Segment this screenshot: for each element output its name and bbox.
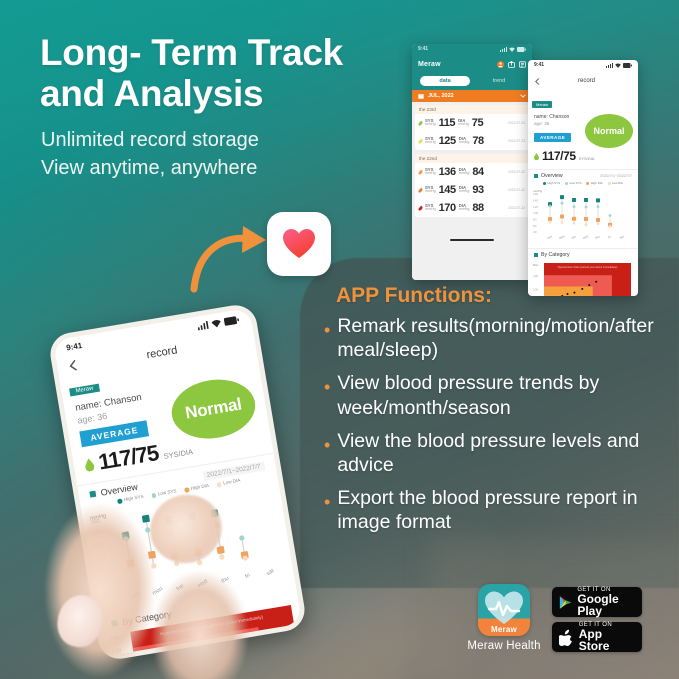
status-badge: Normal: [585, 114, 633, 148]
svg-text:120: 120: [94, 542, 104, 549]
bp-reading: 117/75 SYS/DIA: [534, 147, 632, 165]
svg-text:100: 100: [533, 288, 538, 292]
phone-screenshot-record: 9:41 record Meraw name: Chanson age: 36 …: [528, 60, 638, 296]
dia-label: DIAmmHg: [459, 168, 470, 176]
svg-text:sat: sat: [619, 235, 624, 240]
records-list[interactable]: the 23rd SYSmmHg 115 DIAmmHg 75 2022-07-…: [412, 102, 532, 280]
badge-store-name: App Store: [579, 628, 635, 652]
meraw-heart-logo-icon: Meraw: [478, 584, 530, 636]
sys-value: 136: [439, 166, 456, 178]
svg-text:mon: mon: [558, 234, 565, 240]
dia-label: DIAmmHg: [459, 186, 470, 194]
svg-text:140: 140: [92, 530, 102, 537]
svg-text:fri: fri: [608, 235, 612, 240]
signal-icon: [197, 320, 209, 330]
back-arrow-icon[interactable]: [66, 358, 81, 378]
share-icon[interactable]: [508, 55, 515, 73]
sys-value: 145: [439, 184, 456, 196]
signal-icon: [500, 47, 507, 52]
bullet-icon: •: [324, 378, 330, 396]
dia-value: 84: [472, 166, 483, 178]
svg-text:DIA: DIA: [110, 635, 120, 642]
app-functions-title: APP Functions:: [336, 284, 492, 308]
level-drop-icon: [418, 120, 424, 126]
sys-value: 125: [439, 135, 456, 147]
google-play-badge[interactable]: GET IT ON Google Play: [552, 587, 642, 617]
overview-date-range: 2022/7/1~2022/7/7: [600, 174, 632, 178]
bullet-icon: •: [324, 321, 330, 339]
home-indicator: [450, 239, 494, 241]
summary-card: name: Chanson age: 36 AVERAGE 117/75 SYS…: [528, 111, 638, 169]
legend-label: Low SYS: [570, 182, 582, 185]
level-drop-icon: [418, 138, 424, 144]
status-bar: 9:41: [528, 60, 638, 69]
svg-text:160: 160: [533, 192, 538, 196]
svg-text:wed: wed: [582, 234, 589, 240]
page-title: Long- Term Track and Analysis: [40, 32, 380, 115]
svg-text:tue: tue: [571, 234, 577, 239]
status-icons: [500, 47, 526, 52]
function-text: View the blood pressure levels and advic…: [337, 429, 674, 477]
svg-text:160: 160: [90, 518, 100, 525]
legend-item: Low DIA: [608, 182, 623, 185]
wifi-icon: [615, 63, 621, 68]
svg-text:Hypertensive Crisis (consult y: Hypertensive Crisis (consult your doctor…: [558, 266, 618, 269]
legend-label: High DIA: [591, 182, 603, 185]
overview-section-header: Overview 2022/7/1~2022/7/7: [528, 169, 638, 181]
record-time: 2022-07-22: [508, 170, 525, 174]
sys-label: SYSmmHg: [425, 186, 436, 194]
record-time: 2022-07-23: [508, 121, 525, 125]
calendar-icon: [418, 93, 424, 99]
status-time: 9:41: [534, 62, 544, 68]
legend-label: High SYS: [548, 182, 561, 185]
bp-unit: SYS/DIA: [163, 447, 194, 461]
subtitle-line-1: Unlimited record storage: [41, 126, 371, 154]
table-row[interactable]: SYSmmHg 115 DIAmmHg 75 2022-07-23: [415, 114, 529, 132]
bullet-icon: •: [324, 493, 330, 511]
overview-title: Overview: [541, 173, 563, 179]
list-item: • Export the blood pressure report in im…: [324, 486, 674, 534]
dia-label: DIAmmHg: [459, 137, 470, 145]
svg-text:100: 100: [533, 211, 538, 215]
legend-item: High SYS: [543, 182, 560, 185]
sys-label: SYSmmHg: [425, 119, 436, 127]
bp-value: 117/75: [97, 440, 161, 476]
legend-label: Low DIA: [612, 182, 623, 185]
sys-label: SYSmmHg: [425, 168, 436, 176]
view-tabs: data trend: [412, 76, 532, 90]
record-group-day: the 22nd: [415, 154, 529, 163]
record-title: record: [146, 344, 179, 361]
legend-item: High DIA: [586, 182, 602, 185]
svg-text:mon: mon: [151, 586, 163, 597]
table-row[interactable]: SYSmmHg 145 DIAmmHg 93 2022-07-22: [415, 181, 529, 199]
list-item: • Remark results(morning/motion/after me…: [324, 314, 674, 362]
bullet-icon: •: [324, 436, 330, 454]
meraw-tag: Meraw: [532, 101, 552, 108]
status-icons: [606, 63, 632, 68]
sys-label: SYSmmHg: [425, 204, 436, 212]
google-play-icon: [559, 594, 572, 611]
list-item: • View the blood pressure levels and adv…: [324, 429, 674, 477]
heart-icon: [282, 228, 316, 260]
level-drop-icon: [418, 169, 424, 175]
record-time: 2022-07-23: [508, 139, 525, 143]
status-time: 9:41: [66, 341, 83, 353]
signal-icon: [606, 63, 613, 68]
sys-value: 115: [439, 117, 456, 129]
app-topbar: 9:41 Meraw data trend: [412, 44, 532, 90]
section-marker-icon: [111, 620, 118, 627]
section-marker-icon: [534, 253, 538, 257]
battery-icon: [623, 63, 632, 68]
back-arrow-icon[interactable]: [534, 72, 541, 90]
svg-text:40: 40: [533, 230, 537, 234]
category-chart: DIA12010080Hypertensive Crisis (consult …: [528, 260, 638, 296]
dia-value: 78: [472, 135, 483, 147]
wifi-icon: [509, 47, 515, 52]
status-time: 9:41: [418, 46, 428, 52]
svg-text:tue: tue: [175, 583, 185, 592]
sys-value: 170: [439, 202, 456, 214]
record-group: the 22nd SYSmmHg 136 DIAmmHg 84 2022-07-…: [415, 154, 529, 217]
app-logo-block: Meraw Meraw Health: [464, 584, 544, 652]
record-time: 2022-07-22: [508, 206, 525, 210]
dia-value: 93: [472, 184, 483, 196]
legend-dot-icon: [543, 182, 546, 185]
wifi-icon: [211, 318, 222, 328]
list-item: • View blood pressure trends by week/mon…: [324, 371, 674, 419]
header-icon-group: [497, 55, 526, 73]
legend-dot-icon: [608, 182, 611, 185]
svg-text:60: 60: [100, 578, 107, 585]
svg-text:sun: sun: [130, 590, 141, 600]
date-selector-bar[interactable]: JUL, 2022: [412, 90, 532, 102]
function-text: Export the blood pressure report in imag…: [337, 486, 674, 534]
overview-chart: mmHg406080100120140160sunmontuewedthufri…: [528, 187, 638, 248]
svg-text:60: 60: [533, 224, 537, 228]
svg-text:thu: thu: [595, 234, 601, 239]
record-time: 2022-07-22: [508, 188, 525, 192]
record-group: the 23rd SYSmmHg 115 DIAmmHg 75 2022-07-…: [415, 105, 529, 150]
record-group-day: the 23rd: [415, 105, 529, 114]
status-bar: 9:41: [412, 44, 532, 53]
dia-value: 75: [472, 117, 483, 129]
chevron-down-icon: [520, 94, 526, 98]
table-row[interactable]: SYSmmHg 125 DIAmmHg 78 2022-07-23: [415, 132, 529, 150]
svg-text:sat: sat: [266, 568, 276, 577]
brand-row: Meraw: [412, 53, 532, 76]
svg-text:fri: fri: [244, 572, 251, 580]
headline-line-1: Long- Term Track: [40, 32, 380, 73]
legend-dot-icon: [117, 499, 122, 504]
badge-store-name: Google Play: [577, 593, 635, 617]
app-functions-list: • Remark results(morning/motion/after me…: [324, 314, 674, 543]
legend-dot-icon: [565, 182, 568, 185]
legend-dot-icon: [217, 482, 222, 487]
svg-text:thu: thu: [220, 575, 230, 584]
drop-icon: [534, 147, 539, 165]
legend-dot-icon: [151, 493, 156, 498]
battery-icon: [517, 47, 526, 52]
section-marker-icon: [89, 491, 96, 498]
svg-text:140: 140: [533, 198, 538, 202]
section-marker-icon: [534, 174, 538, 178]
dia-label: DIAmmHg: [458, 119, 469, 127]
table-row[interactable]: SYSmmHg 170 DIAmmHg 88 2022-07-22: [415, 199, 529, 217]
tab-trend[interactable]: trend: [474, 76, 524, 86]
page-subtitle: Unlimited record storage View anytime, a…: [41, 126, 371, 183]
category-title: By Category: [541, 252, 570, 258]
apple-logo-icon: [559, 629, 574, 646]
legend-dot-icon: [586, 182, 589, 185]
svg-text:80: 80: [98, 566, 105, 573]
svg-text:wed: wed: [196, 578, 209, 589]
svg-text:DIA: DIA: [533, 263, 539, 267]
dia-value: 88: [472, 202, 483, 214]
svg-text:100: 100: [96, 554, 106, 561]
dia-label: DIAmmHg: [459, 204, 470, 212]
function-text: Remark results(morning/motion/after meal…: [337, 314, 674, 362]
function-text: View blood pressure trends by week/month…: [337, 371, 674, 419]
record-header: record: [528, 69, 638, 93]
legend-dot-icon: [184, 487, 189, 492]
svg-text:80: 80: [533, 217, 537, 221]
legend-item: Low SYS: [565, 182, 581, 185]
average-badge: AVERAGE: [534, 133, 571, 142]
health-app-card[interactable]: [267, 212, 331, 276]
battery-icon: [224, 315, 240, 325]
app-store-badge[interactable]: GET IT ON App Store: [552, 622, 642, 652]
svg-text:120: 120: [533, 205, 538, 209]
list-icon[interactable]: [519, 55, 526, 73]
record-title: record: [578, 78, 595, 84]
bp-value: 117/75: [542, 149, 576, 163]
date-label: JUL, 2022: [428, 93, 454, 99]
subtitle-line-2: View anytime, anywhere: [41, 154, 371, 182]
logo-wordmark: Meraw: [478, 625, 530, 634]
headline-line-2: and Analysis: [40, 73, 380, 114]
svg-text:sun: sun: [547, 234, 553, 240]
table-row[interactable]: SYSmmHg 136 DIAmmHg 84 2022-07-22: [415, 163, 529, 181]
sys-label: SYSmmHg: [425, 137, 436, 145]
category-section-header: By Category: [528, 248, 638, 260]
bp-unit: SYS/DIA: [579, 156, 595, 161]
phone-screenshot-data-list: 9:41 Meraw data trend JUL, 2022 the 2: [412, 44, 532, 280]
level-drop-icon: [418, 205, 424, 211]
level-drop-icon: [418, 187, 424, 193]
drop-icon: [84, 458, 96, 477]
svg-text:40: 40: [102, 590, 109, 597]
user-avatar-icon[interactable]: [497, 55, 504, 73]
app-brand: Meraw: [418, 61, 441, 68]
svg-text:120: 120: [112, 648, 122, 655]
app-name: Meraw Health: [464, 640, 544, 652]
svg-text:120: 120: [533, 274, 538, 278]
tab-data[interactable]: data: [420, 76, 470, 86]
